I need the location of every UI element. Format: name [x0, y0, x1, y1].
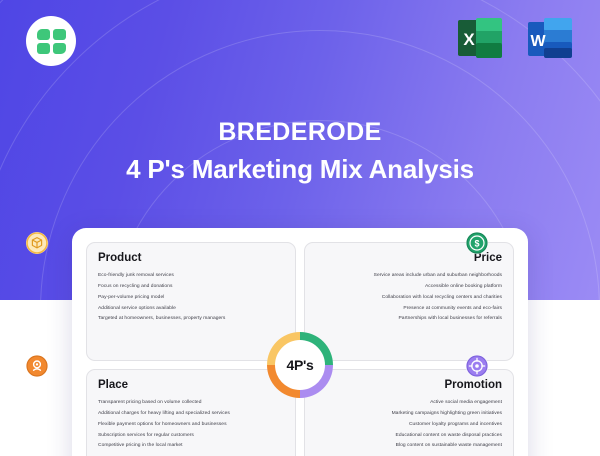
list-item: Pay-per-volume pricing model — [98, 292, 284, 303]
svg-text:$: $ — [474, 239, 479, 249]
brand-logo[interactable] — [26, 16, 76, 66]
list-item: Collaboration with local recycling cente… — [316, 292, 502, 303]
list-item: Active social media engagement — [316, 397, 502, 408]
list-item: Customer loyalty programs and incentives — [316, 419, 502, 430]
list-item: Competitive pricing in the local market — [98, 441, 284, 452]
page-subtitle: 4 P's Marketing Mix Analysis — [0, 154, 600, 185]
list-item: Focus on recycling and donations — [98, 281, 284, 292]
quadrant-title: Promotion — [316, 379, 502, 391]
svg-text:X: X — [463, 30, 475, 49]
donut-center-label: 4P's — [286, 357, 313, 373]
quadrant-title: Place — [98, 379, 284, 391]
target-icon — [466, 355, 488, 377]
list-item: Eco-friendly junk removal services — [98, 270, 284, 281]
hero-titles: BREDERODE 4 P's Marketing Mix Analysis — [0, 118, 600, 185]
list-item: Marketing campaigns highlighting green i… — [316, 408, 502, 419]
svg-text:W: W — [530, 33, 546, 50]
page-title: BREDERODE — [0, 118, 600, 147]
word-icon[interactable]: W — [526, 14, 574, 62]
list-item: Flexible payment options for homeowners … — [98, 419, 284, 430]
quadrant-item-list: Service areas include urban and suburban… — [316, 270, 502, 324]
dollar-coin-icon: $ — [466, 232, 488, 254]
four-ps-donut-chart: 4P's — [259, 324, 341, 406]
list-item: Service areas include urban and suburban… — [316, 270, 502, 281]
list-item: Additional service options available — [98, 303, 284, 314]
list-item: Subscription services for regular custom… — [98, 430, 284, 441]
list-item: Educational content on waste disposal pr… — [316, 430, 502, 441]
list-item: Transparent pricing based on volume coll… — [98, 397, 284, 408]
location-pin-icon — [26, 355, 48, 377]
donut-center: 4P's — [275, 340, 325, 390]
quadrant-title: Product — [98, 252, 284, 264]
four-ps-board: Product Eco-friendly junk removal servic… — [72, 228, 528, 456]
list-item: Targeted at homeowners, businesses, prop… — [98, 314, 284, 325]
list-item: Accessible online booking platform — [316, 281, 502, 292]
list-item: Additional charges for heavy lifting and… — [98, 408, 284, 419]
package-box-icon — [26, 232, 48, 254]
excel-icon[interactable]: X — [456, 14, 504, 62]
list-item: Blog content on sustainable waste manage… — [316, 441, 502, 452]
quadrant-item-list: Active social media engagement Marketing… — [316, 397, 502, 451]
quadrant-grid: Product Eco-friendly junk removal servic… — [86, 242, 514, 456]
quadrant-item-list: Transparent pricing based on volume coll… — [98, 397, 284, 451]
grid-logo-icon — [37, 29, 66, 54]
list-item: Presence at community events and eco-fai… — [316, 303, 502, 314]
list-item: Partnerships with local businesses for r… — [316, 314, 502, 325]
quadrant-item-list: Eco-friendly junk removal services Focus… — [98, 270, 284, 324]
